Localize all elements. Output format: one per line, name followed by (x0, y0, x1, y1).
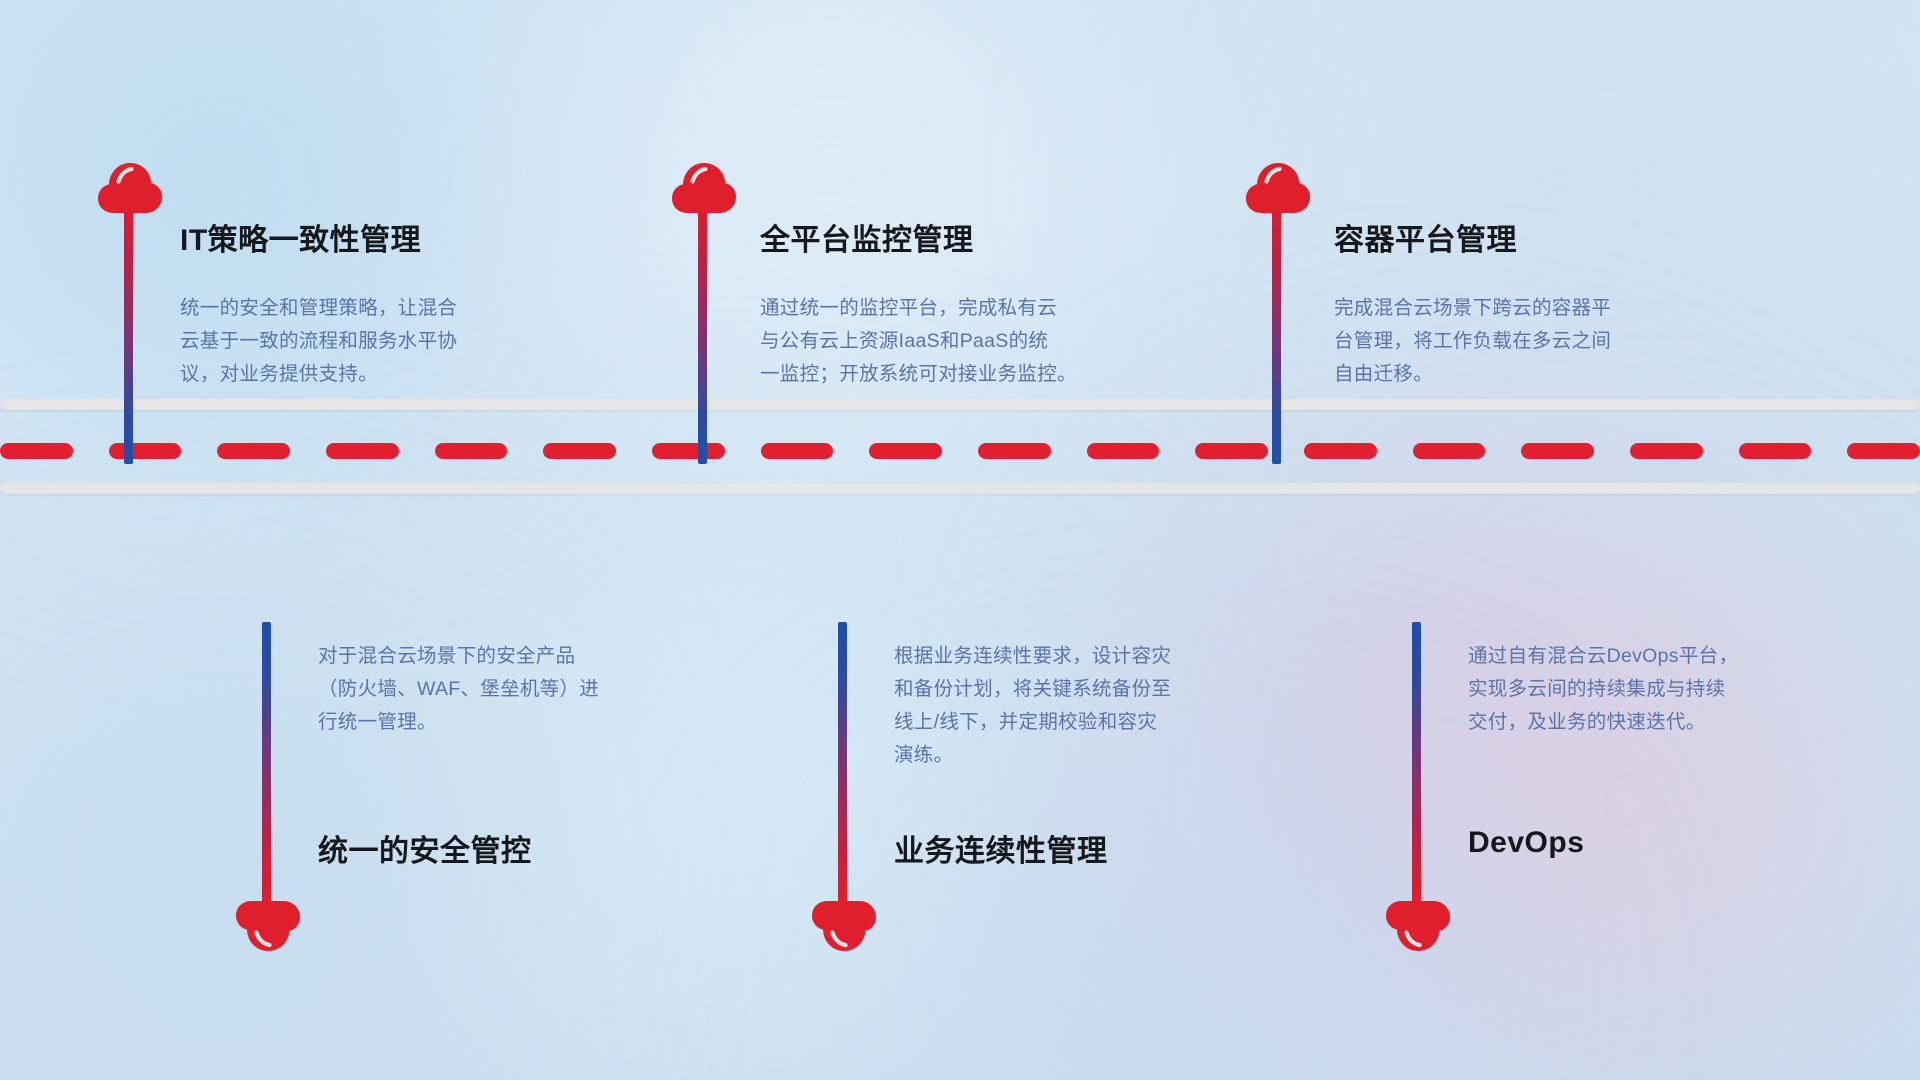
road-dash (217, 443, 290, 459)
road-center-dashes (0, 443, 1920, 459)
road-dash (1739, 443, 1812, 459)
road-rail-top (0, 399, 1920, 410)
road-dash (435, 443, 508, 459)
road-dash (1087, 443, 1160, 459)
road-dash (1413, 443, 1486, 459)
road-dash (109, 443, 182, 459)
road-dash (1195, 443, 1268, 459)
infographic-stage: IT策略一致性管理统一的安全和管理策略，让混合云基于一致的流程和服务水平协议，对… (0, 0, 1920, 1080)
road-dash (326, 443, 399, 459)
road-dash (869, 443, 942, 459)
road-dash (1847, 443, 1920, 459)
road-rail-bottom (0, 483, 1920, 494)
road-dash (652, 443, 725, 459)
road-dash (761, 443, 834, 459)
road-dash (978, 443, 1051, 459)
road-dash (1630, 443, 1703, 459)
road-dash (543, 443, 616, 459)
road-dash (1304, 443, 1377, 459)
road-dash (0, 443, 73, 459)
road-dash (1521, 443, 1594, 459)
